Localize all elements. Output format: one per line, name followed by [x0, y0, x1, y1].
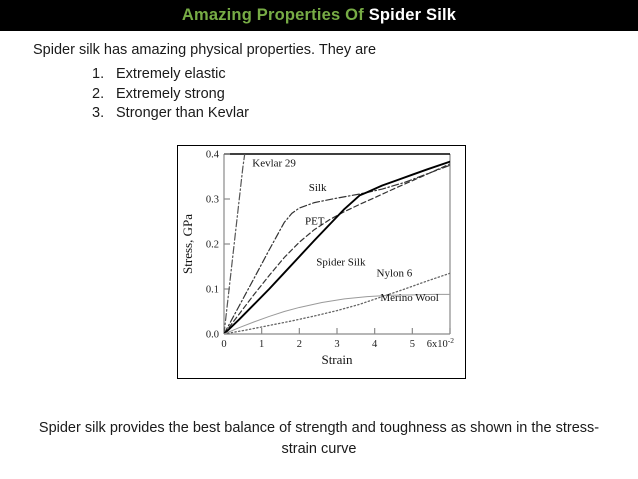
series-line-spider-silk — [224, 162, 450, 334]
x-axis-title: Strain — [321, 352, 353, 367]
series-label-pet: PET — [305, 216, 325, 228]
series-label-merino-wool: Merino Wool — [380, 292, 439, 304]
series-line-pet — [224, 164, 450, 334]
list-item: 3.Stronger than Kevlar — [92, 104, 249, 124]
list-item-number: 3. — [92, 104, 116, 124]
chart-curves — [224, 154, 450, 334]
series-label-kevlar-29: Kevlar 29 — [252, 158, 296, 170]
x-tick-label: 1 — [259, 339, 264, 350]
x-tick-label: 0 — [221, 339, 226, 350]
stress-strain-chart: 0.00.10.20.30.40123456x10-2 Kevlar 29Sil… — [178, 146, 464, 377]
list-item: 1.Extremely elastic — [92, 65, 249, 85]
slide-title-bar: Amazing Properties Of Spider Silk — [0, 0, 638, 31]
list-item: 2.Extremely strong — [92, 85, 249, 105]
y-tick-label: 0.2 — [206, 240, 219, 251]
series-label-nylon-6: Nylon 6 — [377, 267, 413, 279]
list-item-number: 1. — [92, 65, 116, 85]
y-tick-label: 0.0 — [206, 330, 219, 341]
properties-list: 1.Extremely elastic 2.Extremely strong 3… — [92, 65, 249, 124]
x-tick-label: 4 — [372, 339, 378, 350]
chart-axes: 0.00.10.20.30.40123456x10-2 — [206, 150, 454, 350]
figure-caption: Spider silk provides the best balance of… — [22, 418, 616, 460]
list-item-label: Extremely elastic — [116, 65, 226, 85]
page-title-emphasis: Spider Silk — [369, 6, 456, 24]
x-tick-label: 6x10-2 — [427, 336, 454, 350]
x-tick-label: 2 — [297, 339, 302, 350]
list-item-label: Stronger than Kevlar — [116, 104, 249, 124]
x-tick-label: 3 — [334, 339, 339, 350]
page-title: Amazing Properties Of Spider Silk — [182, 6, 456, 25]
series-line-silk — [224, 165, 450, 334]
x-tick-label: 5 — [410, 339, 415, 350]
y-tick-label: 0.1 — [206, 285, 219, 296]
y-tick-label: 0.3 — [206, 195, 219, 206]
list-item-number: 2. — [92, 85, 116, 105]
series-label-silk: Silk — [309, 182, 327, 194]
intro-paragraph: Spider silk has amazing physical propert… — [33, 42, 376, 58]
page-title-accent: Amazing Properties Of — [182, 6, 369, 24]
y-axis-title: Stress, GPa — [180, 214, 195, 274]
y-tick-label: 0.4 — [206, 150, 220, 161]
list-item-label: Extremely strong — [116, 85, 225, 105]
stress-strain-figure: 0.00.10.20.30.40123456x10-2 Kevlar 29Sil… — [177, 145, 466, 379]
series-label-spider-silk: Spider Silk — [316, 257, 366, 269]
